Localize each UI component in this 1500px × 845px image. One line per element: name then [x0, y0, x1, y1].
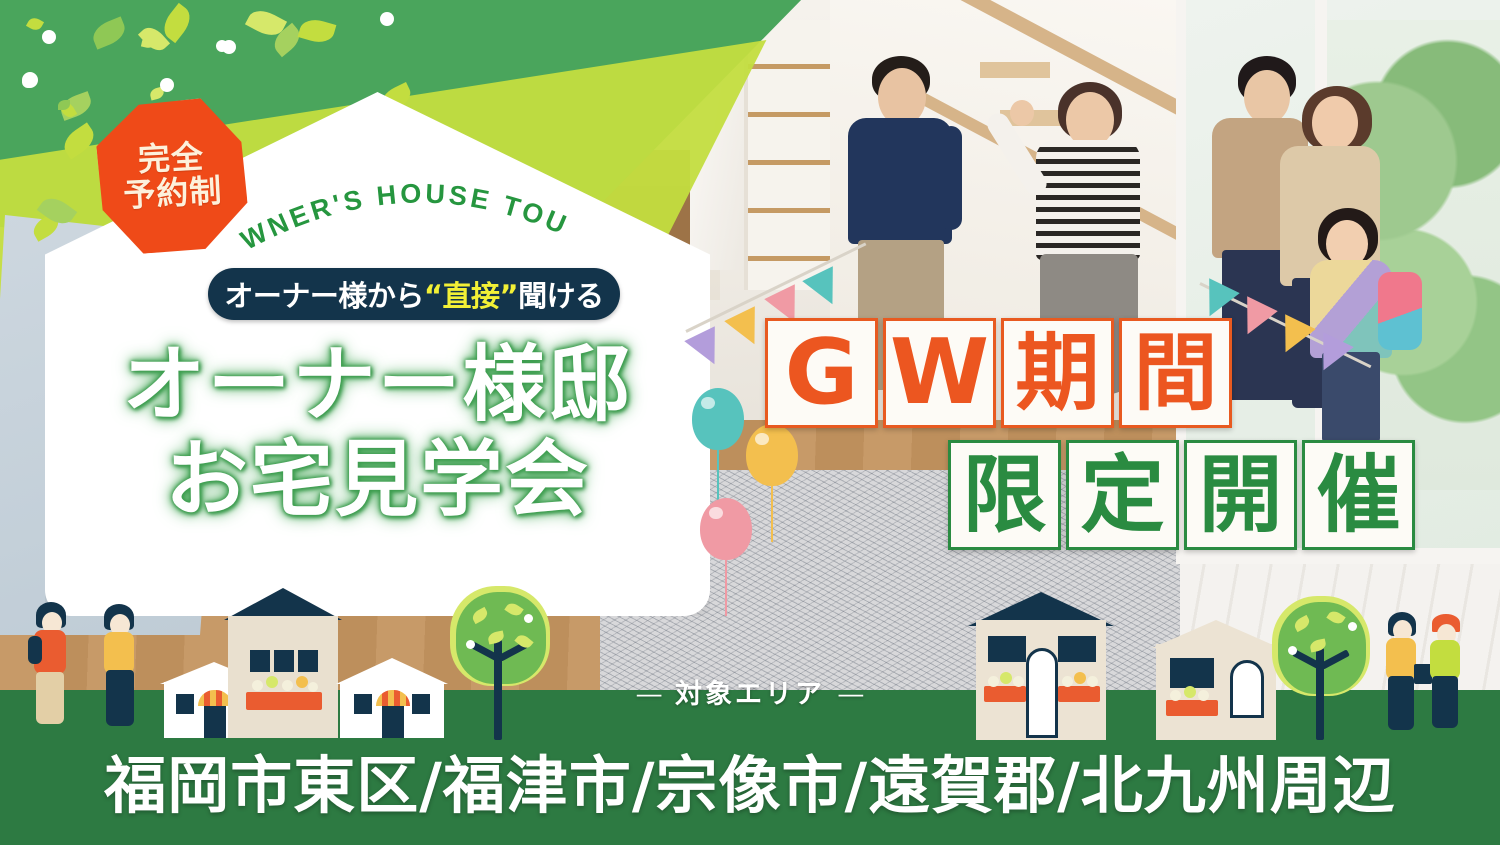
headline-tile: 期 [1001, 318, 1114, 428]
balloon-icon [746, 424, 798, 486]
main-title-line-2: お宅見学会 [45, 433, 710, 528]
subtitle-highlight: 直接 [442, 279, 499, 313]
headline-tile: 限 [948, 440, 1061, 550]
subtitle-quote-close: ” [500, 279, 519, 313]
main-title-line-1: オーナー様邸 [45, 338, 710, 433]
headline-tile: W [883, 318, 996, 428]
window-sill [1176, 548, 1500, 564]
balloon-icon [692, 388, 744, 450]
badge-line-2: 予約制 [123, 173, 224, 213]
promo-banner: OWNER'S HOUSE TOUR オーナー様から“直接”聞ける オーナー様邸… [0, 0, 1500, 845]
headline-row-limited: 限 定 開 催 [948, 440, 1415, 550]
subtitle-prefix: オーナー様から [224, 279, 424, 313]
area-label-row: — 対象エリア — [0, 672, 1500, 711]
dot-icon [380, 12, 394, 26]
main-title: オーナー様邸 お宅見学会 [45, 338, 710, 527]
backpack-icon [1378, 272, 1422, 350]
headline-tile: 間 [1119, 318, 1232, 428]
headline-tile: 開 [1184, 440, 1297, 550]
subtitle-suffix: 聞ける [518, 279, 604, 313]
dash-right: — [837, 679, 864, 710]
arc-heading-wrap: OWNER'S HOUSE TOUR [235, 178, 575, 258]
dot-icon [22, 76, 34, 88]
dot-icon [216, 40, 228, 52]
headline-tile: 定 [1066, 440, 1179, 550]
subtitle-pill: オーナー様から“直接”聞ける [208, 268, 620, 320]
backpack-icon [28, 636, 42, 664]
dot-icon [160, 78, 174, 92]
balloon-icon [700, 498, 752, 560]
subtitle-quote-open: “ [424, 279, 443, 313]
subtitle-text: オーナー様から“直接”聞ける [224, 273, 603, 315]
shelf-icon [744, 20, 838, 290]
headline-tile: 催 [1302, 440, 1415, 550]
headline-tile: G [765, 318, 878, 428]
area-label-text: 対象エリア [675, 679, 825, 710]
stairs-icon [980, 62, 1050, 78]
dot-icon [42, 30, 56, 44]
dash-left: — [636, 679, 663, 710]
headline-row-gw: G W 期 間 [765, 318, 1232, 428]
area-list: 福岡市東区/福津市/宗像市/遠賀郡/北九州周辺 [0, 735, 1500, 825]
